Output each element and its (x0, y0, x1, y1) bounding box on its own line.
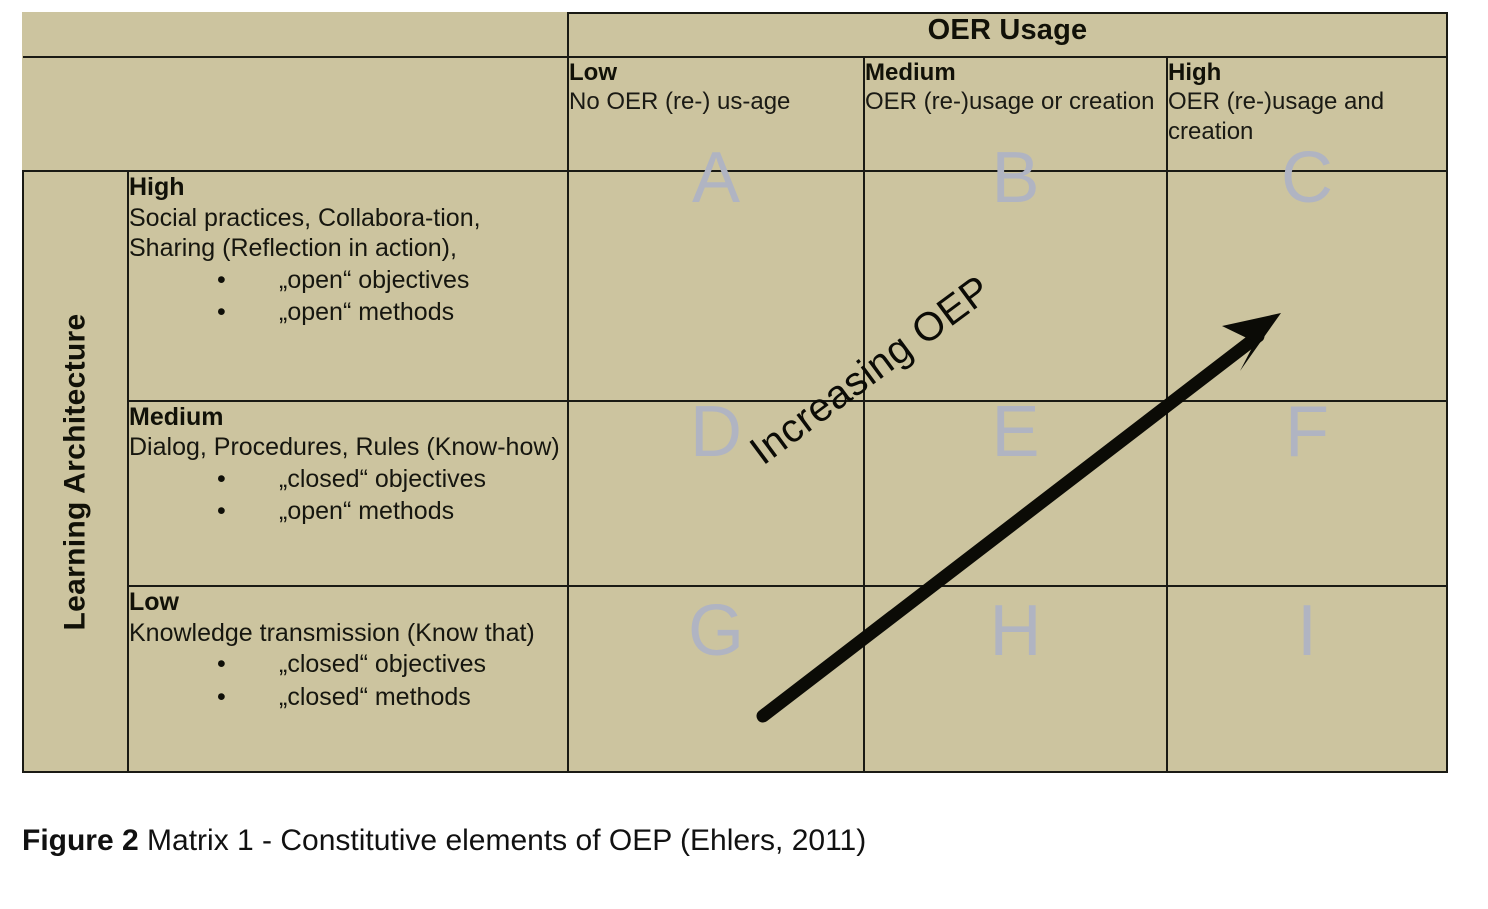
figure-caption: Figure 2 Matrix 1 - Constitutive element… (22, 824, 866, 858)
matrix-cell-letter: C (1281, 138, 1333, 218)
corner-empty-cell-2 (23, 57, 568, 171)
column-header-low-desc: No OER (re-) us-age (569, 87, 863, 116)
matrix-row-medium: Medium Dialog, Procedures, Rules (Know-h… (23, 401, 1447, 587)
figure-root: OER Usage Low No OER (re-) us-age Medium… (0, 0, 1488, 904)
matrix-cell-h: H (864, 586, 1167, 772)
row-header-high-bullets: • „open“ objectives • „open“ methods (129, 264, 567, 329)
matrix-cell-d: D (568, 401, 864, 587)
list-item-label: „open“ methods (279, 298, 454, 326)
oep-matrix-table: OER Usage Low No OER (re-) us-age Medium… (22, 12, 1448, 773)
matrix-cell-i: I (1167, 586, 1447, 772)
matrix-cell-letter: F (1285, 392, 1329, 472)
matrix-cell-b: B (864, 171, 1167, 401)
column-header-low-level: Low (569, 58, 863, 87)
list-item: • „open“ objectives (217, 264, 567, 297)
list-item: • „closed“ objectives (217, 648, 567, 681)
bullet-icon: • (217, 648, 226, 681)
matrix-cell-letter: E (991, 392, 1039, 472)
bullet-icon: • (217, 495, 226, 528)
list-item: • „closed“ objectives (217, 463, 567, 496)
row-axis-title: Learning Architecture (59, 313, 93, 630)
figure-caption-number: Figure 2 (22, 824, 139, 857)
matrix-header-row-axis-title: OER Usage (23, 13, 1447, 57)
row-header-high: High Social practices, Collabora-tion, S… (128, 171, 568, 401)
matrix-cell-letter: I (1297, 591, 1317, 671)
matrix-cell-e: E (864, 401, 1167, 587)
list-item-label: „closed“ objectives (279, 465, 486, 493)
matrix-cell-letter: G (688, 591, 744, 671)
list-item: • „open“ methods (217, 495, 567, 528)
column-header-medium-desc: OER (re-)usage or creation (865, 87, 1166, 116)
matrix-row-high: Learning Architecture High Social practi… (23, 171, 1447, 401)
row-header-medium-level: Medium (129, 402, 567, 433)
bullet-icon: • (217, 681, 226, 714)
bullet-icon: • (217, 463, 226, 496)
column-header-high-level: High (1168, 58, 1446, 87)
row-header-medium-bullets: • „closed“ objectives • „open“ methods (129, 463, 567, 528)
list-item: • „open“ methods (217, 296, 567, 329)
row-header-high-level: High (129, 172, 567, 203)
list-item-label: „closed“ objectives (279, 650, 486, 678)
matrix-cell-letter: A (692, 138, 740, 218)
row-header-high-desc: Social practices, Collabora-tion, Sharin… (129, 203, 567, 264)
list-item: • „closed“ methods (217, 681, 567, 714)
row-axis-title-cell: Learning Architecture (23, 171, 128, 772)
row-header-low: Low Knowledge transmission (Know that) •… (128, 586, 568, 772)
list-item-label: „closed“ methods (279, 683, 471, 711)
row-header-medium: Medium Dialog, Procedures, Rules (Know-h… (128, 401, 568, 587)
list-item-label: „open“ objectives (279, 266, 469, 294)
bullet-icon: • (217, 296, 226, 329)
row-header-low-level: Low (129, 587, 567, 618)
matrix-cell-a: A (568, 171, 864, 401)
matrix-cell-letter: B (991, 138, 1039, 218)
column-axis-title-cell: OER Usage (568, 13, 1447, 57)
figure-caption-text: Matrix 1 - Constitutive elements of OEP … (139, 824, 867, 857)
row-header-low-bullets: • „closed“ objectives • „closed“ methods (129, 648, 567, 713)
column-axis-title: OER Usage (928, 14, 1088, 46)
matrix-cell-c: C (1167, 171, 1447, 401)
corner-empty-cell (23, 13, 568, 57)
list-item-label: „open“ methods (279, 497, 454, 525)
bullet-icon: • (217, 264, 226, 297)
matrix-cell-letter: D (690, 392, 742, 472)
matrix-cell-g: G (568, 586, 864, 772)
matrix-row-low: Low Knowledge transmission (Know that) •… (23, 586, 1447, 772)
matrix-cell-f: F (1167, 401, 1447, 587)
matrix-cell-letter: H (990, 591, 1042, 671)
row-header-low-desc: Knowledge transmission (Know that) (129, 618, 567, 649)
oep-matrix-table-wrapper: OER Usage Low No OER (re-) us-age Medium… (22, 12, 1446, 773)
row-header-medium-desc: Dialog, Procedures, Rules (Know-how) (129, 432, 567, 463)
column-header-medium-level: Medium (865, 58, 1166, 87)
